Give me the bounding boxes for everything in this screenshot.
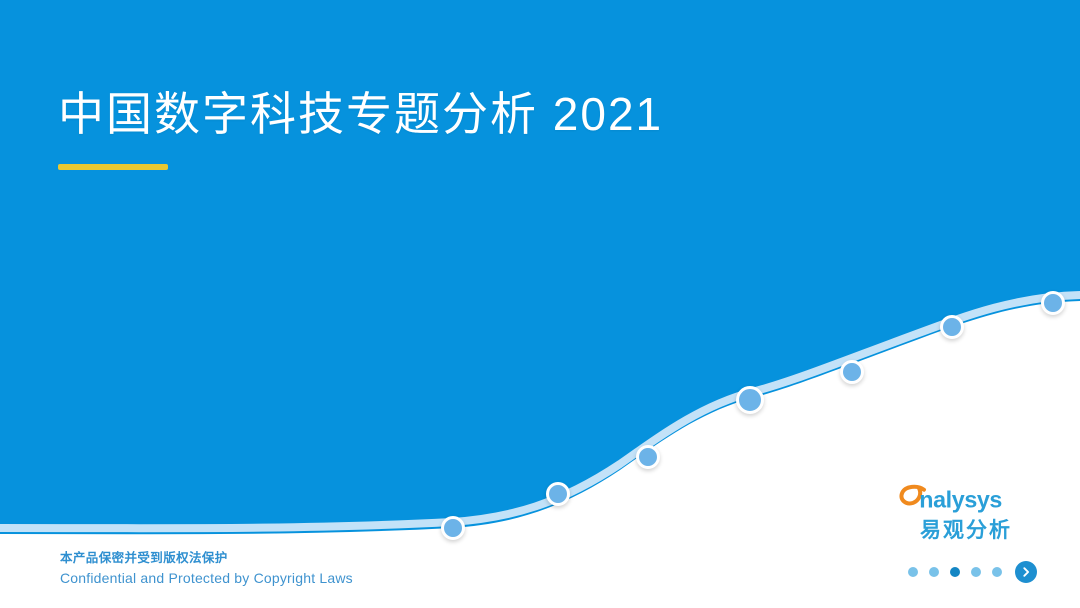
next-slide-button[interactable] bbox=[1015, 561, 1037, 583]
brand-logo: nalysys 易观分析 bbox=[896, 482, 1036, 544]
pagination-dot-4[interactable] bbox=[971, 567, 981, 577]
chart-marker bbox=[840, 360, 864, 384]
chart-marker bbox=[736, 386, 764, 414]
page-title: 中国数字科技专题分析 2021 bbox=[58, 82, 663, 146]
pagination-dot-3[interactable] bbox=[950, 567, 960, 577]
analysys-wordmark-icon: nalysys bbox=[896, 482, 1028, 516]
chevron-right-icon bbox=[1020, 566, 1032, 578]
slide-pagination[interactable] bbox=[908, 561, 1037, 583]
pagination-dot-2[interactable] bbox=[929, 567, 939, 577]
pagination-dot-1[interactable] bbox=[908, 567, 918, 577]
chart-marker bbox=[1041, 291, 1065, 315]
chart-marker bbox=[441, 516, 465, 540]
pagination-dot-5[interactable] bbox=[992, 567, 1002, 577]
chart-marker bbox=[546, 482, 570, 506]
svg-text:nalysys: nalysys bbox=[919, 487, 1002, 513]
copyright-notice: 本产品保密并受到版权法保护 Confidential and Protected… bbox=[60, 549, 353, 590]
copyright-notice-cn: 本产品保密并受到版权法保护 bbox=[60, 549, 353, 568]
brand-name-cn: 易观分析 bbox=[896, 518, 1036, 544]
chart-marker bbox=[636, 445, 660, 469]
copyright-notice-en: Confidential and Protected by Copyright … bbox=[60, 568, 353, 590]
title-block: 中国数字科技专题分析 2021 bbox=[58, 82, 663, 170]
chart-marker bbox=[940, 315, 964, 339]
title-accent-rule bbox=[58, 164, 168, 170]
title-slide: 中国数字科技专题分析 2021 本产品保密并受到版权法保护 Confidenti… bbox=[0, 0, 1080, 608]
